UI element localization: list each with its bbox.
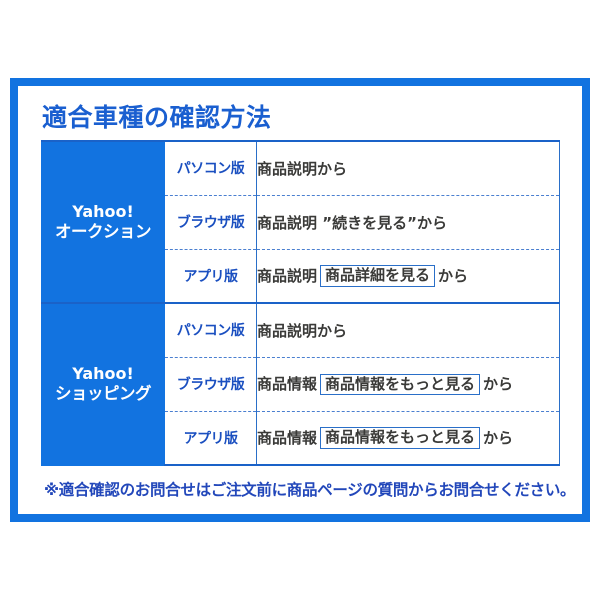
brand-cell-auction: Yahoo! オークション — [42, 141, 165, 303]
info-panel-body: 適合車種の確認方法 Yahoo! オークション パソコン版 — [18, 86, 582, 514]
boxed-button-label-more-info[interactable]: 商品情報をもっと見る — [320, 374, 480, 396]
info-panel-frame: 適合車種の確認方法 Yahoo! オークション パソコン版 — [10, 78, 590, 522]
description-text: 商品説明 ”続きを見る”から — [257, 214, 447, 232]
screenshot-canvas: 適合車種の確認方法 Yahoo! オークション パソコン版 — [0, 0, 600, 600]
description-text: 商品説明から — [257, 322, 347, 340]
description-pc-shopping: 商品説明から — [257, 303, 560, 357]
brand-name-line2: ショッピング — [42, 384, 164, 403]
brand-name-line2: オークション — [42, 222, 164, 241]
description-browser-shopping: 商品情報商品情報をもっと見るから — [257, 357, 560, 411]
brand-cell-shopping: Yahoo! ショッピング — [42, 303, 165, 465]
description-text-suffix: から — [483, 375, 513, 393]
description-browser-auction: 商品説明 ”続きを見る”から — [257, 195, 560, 249]
table-row: Yahoo! オークション パソコン版 商品説明から — [42, 141, 560, 195]
boxed-button-label-more-info[interactable]: 商品情報をもっと見る — [320, 427, 480, 449]
version-label-app-shopping: アプリ版 — [165, 411, 257, 465]
version-label-pc-shopping: パソコン版 — [165, 303, 257, 357]
description-app-shopping: 商品情報商品情報をもっと見るから — [257, 411, 560, 465]
description-text-suffix: から — [438, 267, 468, 285]
table-row: Yahoo! ショッピング パソコン版 商品説明から — [42, 303, 560, 357]
description-app-auction: 商品説明商品詳細を見るから — [257, 249, 560, 303]
description-pc-auction: 商品説明から — [257, 141, 560, 195]
fitment-check-table: Yahoo! オークション パソコン版 商品説明から ブラウザ版 商品説明 ”続… — [41, 140, 560, 466]
version-label-app-auction: アプリ版 — [165, 249, 257, 303]
description-text-suffix: から — [483, 429, 513, 447]
description-text-prefix: 商品説明 — [257, 267, 317, 285]
description-text: 商品説明から — [257, 160, 347, 178]
brand-name-line1: Yahoo! — [42, 365, 164, 384]
brand-name-line1: Yahoo! — [42, 203, 164, 222]
description-text-prefix: 商品情報 — [257, 375, 317, 393]
version-label-browser-auction: ブラウザ版 — [165, 195, 257, 249]
version-label-browser-shopping: ブラウザ版 — [165, 357, 257, 411]
version-label-pc-auction: パソコン版 — [165, 141, 257, 195]
page-title: 適合車種の確認方法 — [42, 98, 272, 134]
description-text-prefix: 商品情報 — [257, 429, 317, 447]
fitment-inquiry-note: ※適合確認のお問合せはご注文前に商品ページの質問からお問合せください。 — [44, 478, 575, 500]
boxed-button-label-item-detail[interactable]: 商品詳細を見る — [320, 265, 435, 287]
